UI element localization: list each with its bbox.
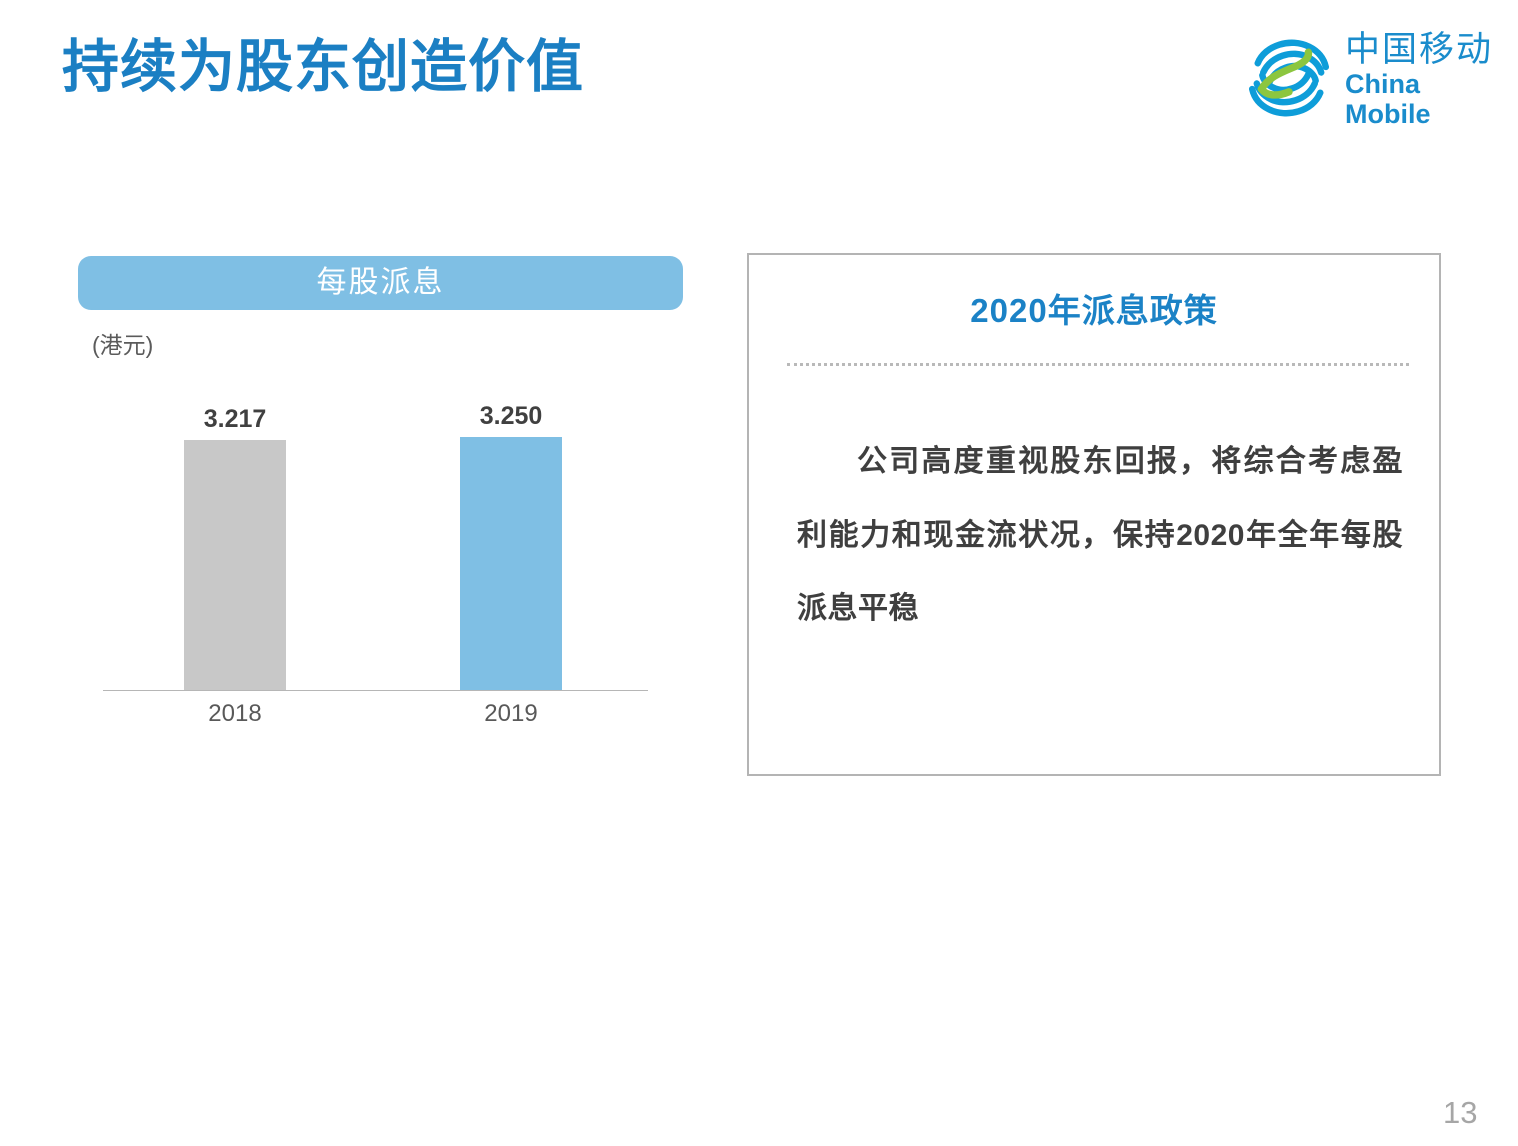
dividend-policy-panel: 2020年派息政策 公司高度重视股东回报，将综合考虑盈利能力和现金流状况，保持2… <box>747 253 1441 776</box>
bar-2019 <box>460 437 562 690</box>
bar-plot-area: 3.217 3.250 <box>100 410 660 691</box>
brand-name-en: China Mobile <box>1345 70 1493 129</box>
x-axis-line <box>103 690 648 691</box>
bar-value-label: 3.217 <box>204 407 267 432</box>
policy-panel-body: 公司高度重视股东回报，将综合考虑盈利能力和现金流状况，保持2020年全年每股派息… <box>797 425 1403 646</box>
chart-unit-label: (港元) <box>92 334 153 357</box>
x-tick-label-2019: 2019 <box>460 702 562 726</box>
page-title: 持续为股东创造价值 <box>62 36 584 99</box>
policy-panel-divider <box>787 363 1409 366</box>
bar-group-2018: 3.217 <box>184 440 286 690</box>
brand-logo: 中国移动 China Mobile <box>1243 30 1493 125</box>
china-mobile-logo-icon <box>1243 32 1335 124</box>
bar-value-label: 3.250 <box>480 404 543 429</box>
brand-name-cn: 中国移动 <box>1345 30 1493 70</box>
chart-header-pill: 每股派息 <box>78 256 683 310</box>
dividend-per-share-bar-chart: 3.217 3.250 2018 2019 <box>100 410 660 730</box>
bar-group-2019: 3.250 <box>460 437 562 690</box>
bar-2018 <box>184 440 286 690</box>
x-tick-label-2018: 2018 <box>184 702 286 726</box>
brand-wordmark: 中国移动 China Mobile <box>1345 26 1493 130</box>
page-number: 13 <box>1443 1097 1477 1128</box>
chart-header-label: 每股派息 <box>317 268 445 298</box>
policy-panel-title: 2020年派息政策 <box>749 294 1439 327</box>
